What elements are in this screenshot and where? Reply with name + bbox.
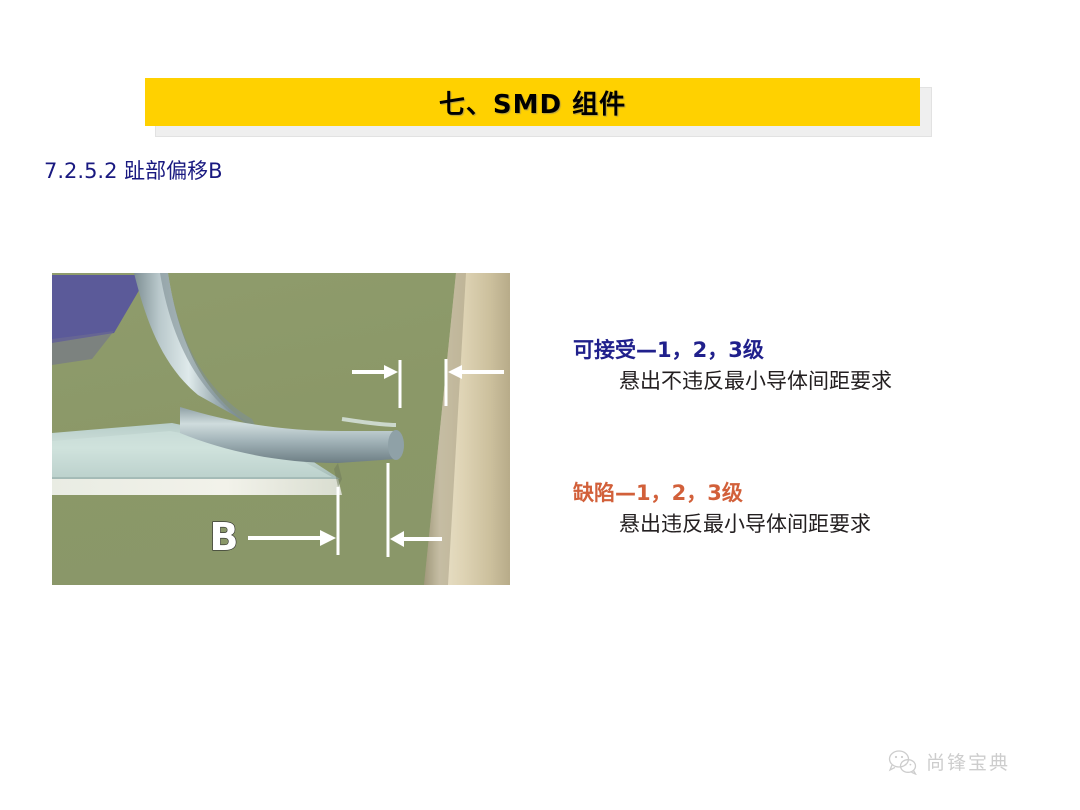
watermark: 尚锋宝典 (888, 748, 1010, 775)
criteria-acceptable-heading: 可接受—1，2，3级 (573, 337, 892, 363)
watermark-text: 尚锋宝典 (926, 748, 1010, 775)
dimension-label-b: B (210, 515, 239, 559)
header-bar: 七、SMD 组件 (145, 78, 920, 126)
criteria-defect-body: 悬出违反最小导体间距要求 (619, 511, 871, 537)
criteria-defect-heading: 缺陷—1，2，3级 (573, 480, 871, 506)
lead-toe-end (388, 430, 404, 460)
criteria-acceptable: 可接受—1，2，3级 悬出不违反最小导体间距要求 (573, 337, 892, 395)
section-subtitle: 7.2.5.2 趾部偏移B (44, 155, 223, 185)
component-photo: B (52, 273, 510, 585)
criteria-acceptable-body: 悬出不违反最小导体间距要求 (619, 368, 892, 394)
wechat-icon (888, 749, 918, 775)
page-title: 七、SMD 组件 (439, 84, 626, 121)
slide-header: 七、SMD 组件 (145, 78, 920, 126)
criteria-defect: 缺陷—1，2，3级 悬出违反最小导体间距要求 (573, 480, 871, 538)
component-photo-graphic: B (52, 273, 510, 585)
solder-pad (52, 478, 342, 495)
slide-page: 七、SMD 组件 7.2.5.2 趾部偏移B (0, 0, 1080, 810)
